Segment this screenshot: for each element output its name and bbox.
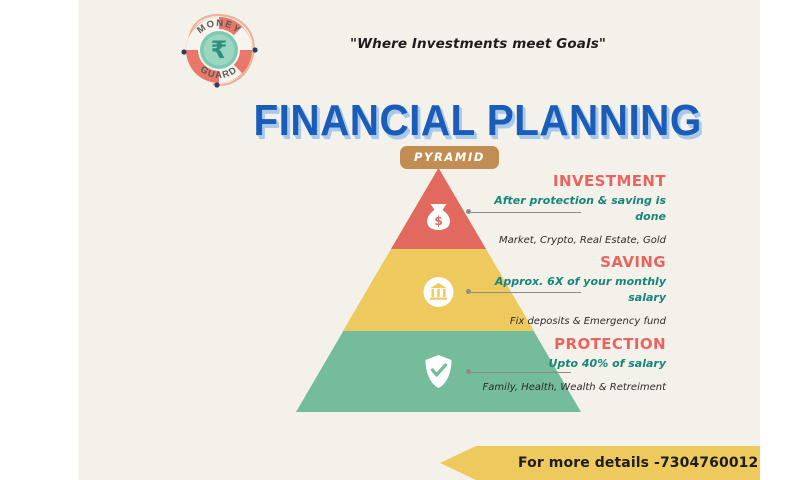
contact-banner-text: For more details -7304760012 — [518, 455, 758, 471]
pyramid-badge: PYRAMID — [400, 146, 499, 169]
info-detail-investment: Market, Crypto, Real Estate, Gold — [476, 234, 666, 248]
svg-text:$: $ — [434, 214, 442, 228]
money-guard-logo: ₹ MONEY GUARD — [173, 6, 265, 94]
info-block-saving: SAVING Approx. 6X of your monthly salary… — [476, 253, 666, 329]
contact-banner[interactable]: For more details -7304760012 — [440, 446, 760, 480]
info-highlight-saving: Approx. 6X of your monthly salary — [476, 274, 666, 306]
bank-building-icon — [424, 277, 454, 307]
info-title-protection: PROTECTION — [476, 335, 666, 353]
rupee-symbol: ₹ — [211, 36, 228, 64]
info-detail-saving: Fix deposits & Emergency fund — [476, 315, 666, 329]
info-title-investment: INVESTMENT — [476, 172, 666, 190]
page-title: FINANCIAL PLANNING — [208, 96, 748, 146]
info-block-investment: INVESTMENT After protection & saving is … — [476, 172, 666, 248]
info-block-protection: PROTECTION Upto 40% of salary Family, He… — [476, 335, 666, 395]
tagline: "Where Investments meet Goals" — [278, 36, 678, 52]
poster-canvas: ₹ MONEY GUARD "Where Investments meet — [0, 0, 800, 480]
poster-background: ₹ MONEY GUARD "Where Investments meet — [78, 0, 760, 480]
info-highlight-protection: Upto 40% of salary — [476, 356, 666, 372]
info-detail-protection: Family, Health, Wealth & Retreiment — [476, 381, 666, 395]
info-title-saving: SAVING — [476, 253, 666, 271]
info-highlight-investment: After protection & saving is done — [476, 193, 666, 225]
page-title-text: FINANCIAL PLANNING — [254, 96, 702, 146]
